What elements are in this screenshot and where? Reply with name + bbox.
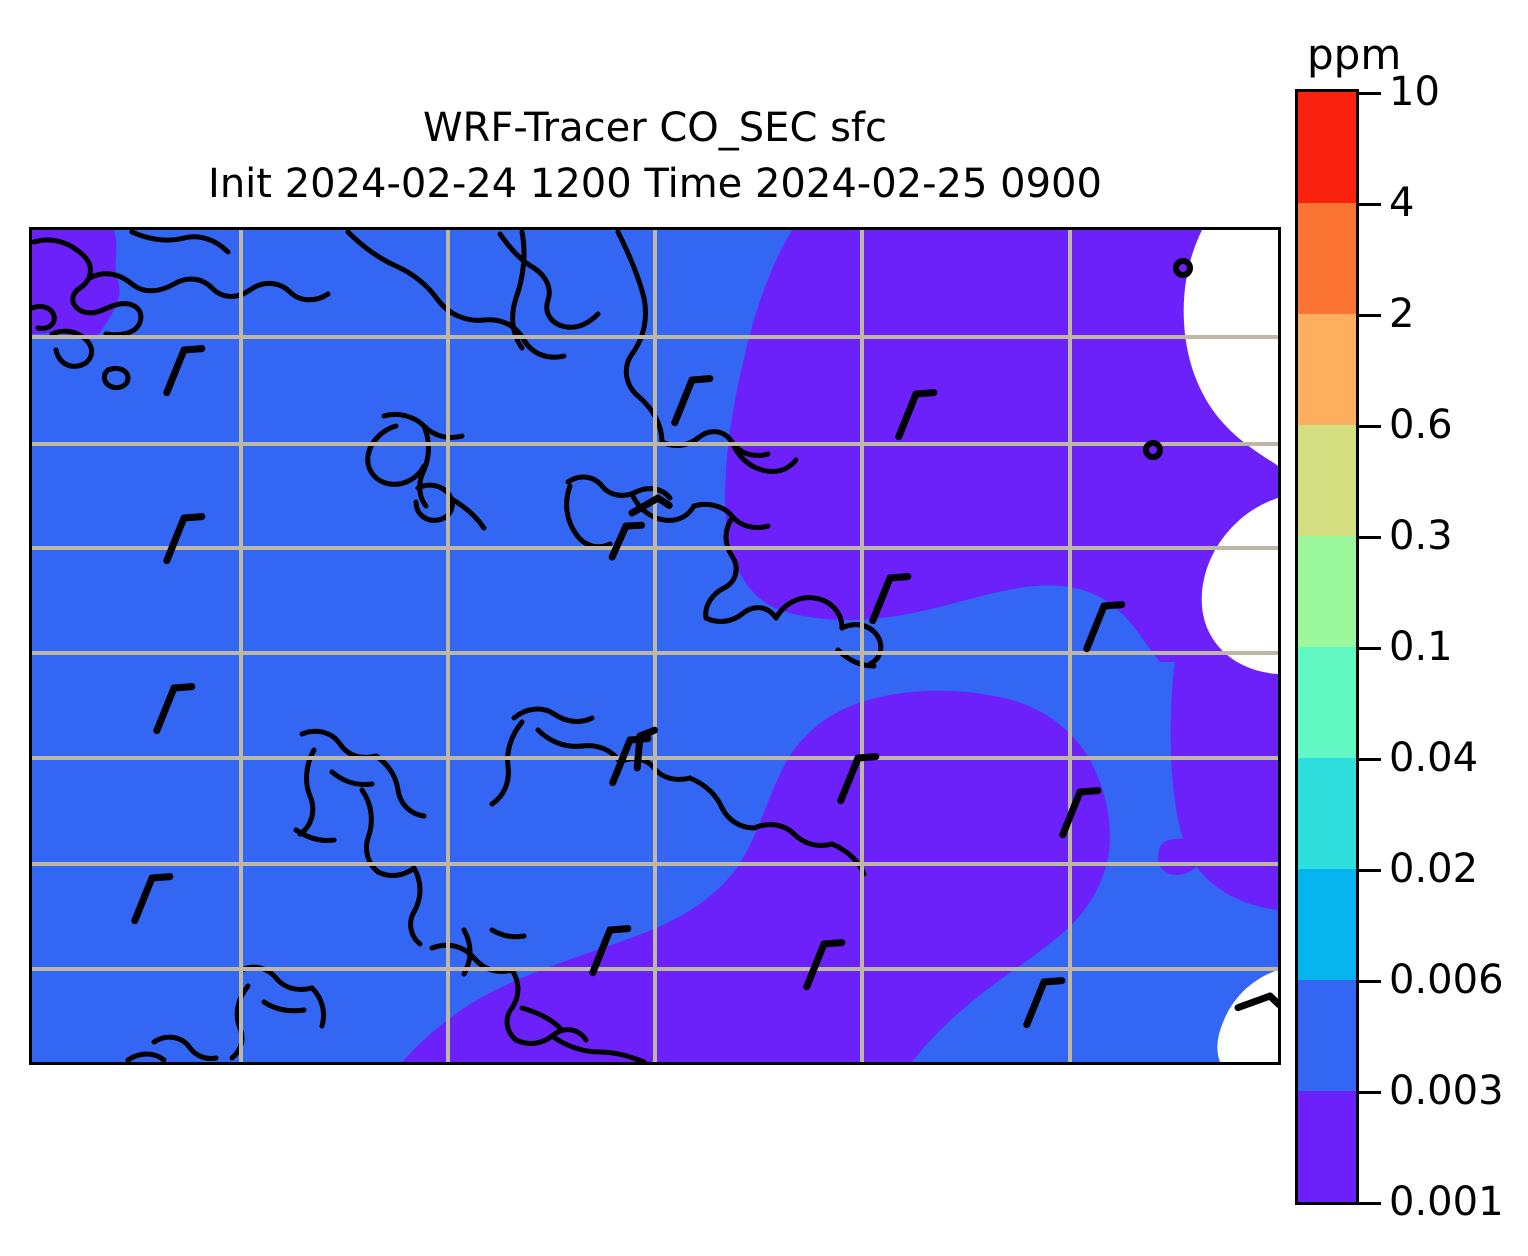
colorbar[interactable] <box>1295 89 1359 1205</box>
colorbar-tick <box>1359 758 1381 761</box>
colorbar-tick <box>1359 647 1381 650</box>
colorbar-tick <box>1359 1091 1381 1094</box>
title-line-1: WRF-Tracer CO_SEC sfc <box>423 105 887 151</box>
colorbar-tick-label: 4 <box>1389 183 1414 223</box>
colorbar-tick-label: 0.3 <box>1389 516 1453 556</box>
colorbar-band <box>1298 1091 1356 1202</box>
colorbar-band <box>1298 92 1356 203</box>
colorbar-tick <box>1359 203 1381 206</box>
colorbar-band <box>1298 647 1356 758</box>
colorbar-tick-label: 0.003 <box>1389 1071 1504 1111</box>
colorbar-unit-label: ppm <box>1307 33 1401 77</box>
colorbar-tick <box>1359 869 1381 872</box>
colorbar-tick-label: 2 <box>1389 294 1414 334</box>
colorbar-tick <box>1359 314 1381 317</box>
colorbar-band <box>1298 758 1356 869</box>
colorbar-tick <box>1359 92 1381 95</box>
colorbar-tick-label: 10 <box>1389 72 1440 112</box>
title-line-2: Init 2024-02-24 1200 Time 2024-02-25 090… <box>208 161 1102 207</box>
colorbar-tick <box>1359 425 1381 428</box>
map-panel[interactable] <box>29 227 1281 1065</box>
colorbar-tick-group: 10420.60.30.10.040.020.0060.0030.001 <box>1359 89 1528 1205</box>
colorbar-tick-label: 0.006 <box>1389 960 1504 1000</box>
colorbar-band <box>1298 536 1356 647</box>
colorbar-tick-label: 0.1 <box>1389 627 1453 667</box>
colorbar-tick <box>1359 536 1381 539</box>
colorbar-band <box>1298 314 1356 425</box>
figure-root: WRF-Tracer CO_SEC sfcInit 2024-02-24 120… <box>0 0 1528 1256</box>
colorbar-tick <box>1359 1202 1381 1205</box>
colorbar-tick-label: 0.04 <box>1389 738 1478 778</box>
map-canvas <box>32 230 1278 1062</box>
colorbar-band <box>1298 425 1356 536</box>
colorbar-band <box>1298 980 1356 1091</box>
colorbar-tick <box>1359 980 1381 983</box>
colorbar-tick-label: 0.6 <box>1389 405 1453 445</box>
colorbar-band <box>1298 203 1356 314</box>
colorbar-tick-label: 0.02 <box>1389 849 1478 889</box>
colorbar-band <box>1298 869 1356 980</box>
colorbar-tick-label: 0.001 <box>1389 1182 1504 1222</box>
page-title: WRF-Tracer CO_SEC sfcInit 2024-02-24 120… <box>29 100 1281 212</box>
